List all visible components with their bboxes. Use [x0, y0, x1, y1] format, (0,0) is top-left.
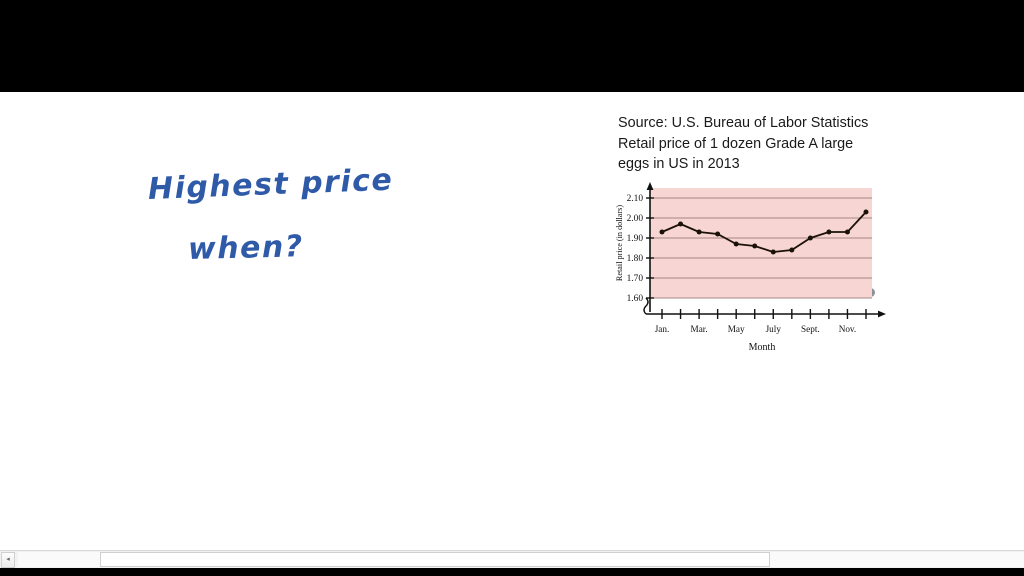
- caption-line-source: Source: U.S. Bureau of Labor Statistics: [618, 113, 890, 134]
- svg-text:Mar.: Mar.: [691, 324, 708, 334]
- y-axis-title: Retail price (in dollars): [615, 205, 624, 281]
- y-axis-break-squiggle: [644, 298, 648, 314]
- svg-text:2.10: 2.10: [627, 194, 644, 204]
- scroll-left-arrow-icon[interactable]: ◂: [1, 552, 15, 568]
- egg-price-line-chart: 1.601.701.801.902.002.10 Jan.Mar.MayJuly…: [610, 180, 890, 355]
- source-caption: Source: U.S. Bureau of Labor Statistics …: [618, 113, 890, 175]
- svg-text:May: May: [728, 324, 745, 334]
- plot-background: [650, 188, 872, 298]
- horizontal-scrollbar[interactable]: ◂: [0, 550, 1024, 568]
- screen-root: Highest price when? Source: U.S. Bureau …: [0, 0, 1024, 576]
- svg-text:Sept.: Sept.: [801, 324, 820, 334]
- y-axis-arrowhead: [647, 182, 654, 190]
- svg-text:Nov.: Nov.: [839, 324, 857, 334]
- svg-text:1.70: 1.70: [627, 274, 644, 284]
- letterbox-bottom-bar: [0, 568, 1024, 576]
- x-axis-ticks: Jan.Mar.MayJulySept.Nov.: [655, 309, 866, 334]
- letterbox-top-bar: [0, 0, 1024, 92]
- svg-text:1.90: 1.90: [627, 234, 644, 244]
- handwritten-question-line-1: Highest price: [147, 163, 394, 207]
- caption-line-description: Retail price of 1 dozen Grade A large: [618, 134, 890, 155]
- svg-text:1.60: 1.60: [627, 294, 644, 304]
- x-axis-arrowhead: [878, 311, 886, 318]
- scrollbar-thumb[interactable]: [100, 552, 770, 567]
- svg-text:1.80: 1.80: [627, 254, 644, 264]
- chart-svg: 1.601.701.801.902.002.10 Jan.Mar.MayJuly…: [610, 180, 890, 355]
- svg-text:Jan.: Jan.: [655, 324, 670, 334]
- caption-line-year: eggs in US in 2013: [618, 154, 890, 175]
- whiteboard-canvas[interactable]: Highest price when? Source: U.S. Bureau …: [0, 92, 1024, 568]
- x-axis-title: Month: [749, 342, 776, 353]
- svg-text:July: July: [766, 324, 782, 334]
- svg-text:2.00: 2.00: [627, 214, 644, 224]
- handwritten-question-line-2: when?: [188, 229, 305, 267]
